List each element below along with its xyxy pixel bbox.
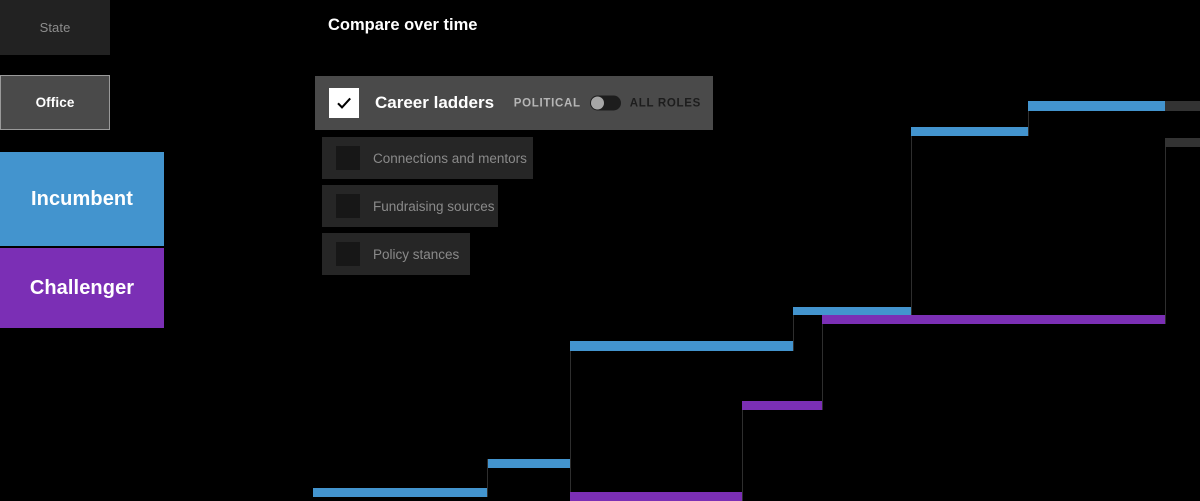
toggle-label-political: POLITICAL	[514, 97, 581, 109]
chart-bar-challenger	[742, 401, 822, 410]
chart-bar-overflow	[1165, 138, 1200, 147]
chart-bar-challenger	[822, 315, 1165, 324]
sidebar-item-state-label: State	[40, 20, 71, 35]
chart-bar-incumbent	[313, 488, 487, 497]
chart-bar-incumbent	[488, 459, 570, 468]
chart-bar-incumbent	[793, 307, 911, 315]
step-connector	[911, 127, 912, 315]
checkbox-connections-and-mentors[interactable]	[336, 146, 360, 170]
step-connector	[1028, 101, 1029, 136]
panel-title: Compare over time	[328, 16, 477, 35]
step-connector	[1165, 138, 1166, 324]
step-connector	[822, 315, 823, 410]
option-label-connections-and-mentors: Connections and mentors	[373, 151, 527, 166]
checkbox-policy-stances[interactable]	[336, 242, 360, 266]
chart-bar-incumbent	[570, 341, 793, 351]
sidebar-item-challenger-label: Challenger	[30, 277, 134, 300]
step-connector	[570, 341, 571, 501]
option-row-connections-and-mentors[interactable]: Connections and mentors	[322, 137, 533, 179]
step-connector	[793, 307, 794, 351]
sidebar-item-office[interactable]: Office	[0, 75, 110, 130]
option-row-policy-stances[interactable]: Policy stances	[322, 233, 470, 275]
chart-bar-incumbent	[1028, 101, 1165, 111]
option-label-career-ladders: Career ladders	[375, 93, 494, 113]
toggle-knob[interactable]	[591, 97, 604, 110]
step-connector	[487, 459, 488, 497]
chart-bar-challenger	[570, 492, 742, 501]
chart-bar-incumbent	[911, 127, 1028, 136]
left-sidebar: State Office Incumbent Challenger	[0, 0, 180, 501]
toggle-label-all-roles: ALL ROLES	[630, 97, 701, 109]
roles-toggle-group[interactable]: POLITICAL ALL ROLES	[514, 96, 701, 111]
sidebar-item-incumbent-label: Incumbent	[31, 188, 133, 211]
option-row-career-ladders[interactable]: Career ladders POLITICAL ALL ROLES	[315, 76, 713, 130]
roles-toggle-switch[interactable]	[590, 96, 621, 111]
check-icon	[335, 94, 353, 112]
option-label-fundraising-sources: Fundraising sources	[373, 199, 495, 214]
sidebar-item-incumbent[interactable]: Incumbent	[0, 152, 164, 246]
sidebar-item-office-label: Office	[36, 95, 75, 110]
option-label-policy-stances: Policy stances	[373, 247, 459, 262]
sidebar-item-state[interactable]: State	[0, 0, 110, 55]
sidebar-item-challenger[interactable]: Challenger	[0, 248, 164, 328]
checkbox-fundraising-sources[interactable]	[336, 194, 360, 218]
step-connector	[742, 401, 743, 501]
chart-bar-overflow	[1165, 101, 1200, 111]
option-row-fundraising-sources[interactable]: Fundraising sources	[322, 185, 498, 227]
checkbox-career-ladders[interactable]	[329, 88, 359, 118]
